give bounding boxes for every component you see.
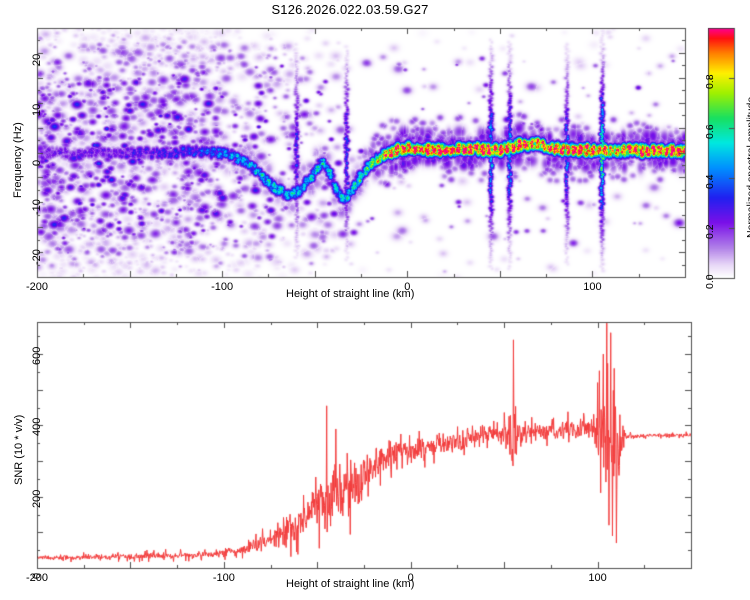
bottom-ytick-label: 400 — [31, 418, 43, 436]
bottom-xtick-label: -100 — [210, 572, 238, 584]
bottom-yaxis-title: SNR (10 * v/v) — [13, 415, 25, 485]
bottom-ytick-label: 600 — [31, 347, 43, 365]
bottom-xtick-label: 100 — [584, 572, 612, 584]
snr-axes — [0, 0, 750, 600]
figure-root: S126.2026.022.03.59.G27 -200-1000100-20-… — [0, 0, 750, 600]
bottom-ytick-label: 0 — [31, 573, 43, 579]
bottom-xaxis-title: Height of straight line (km) — [286, 578, 414, 590]
bottom-ytick-label: 200 — [31, 489, 43, 507]
